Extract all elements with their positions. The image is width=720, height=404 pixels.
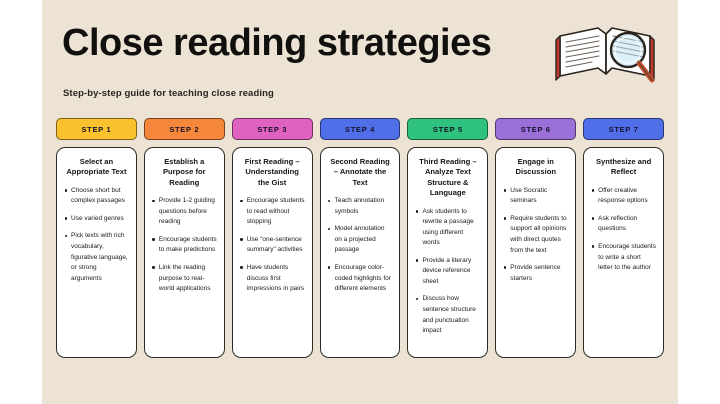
page-title: Close reading strategies: [62, 24, 491, 64]
step-card-title-6: Engage in Discussion: [503, 157, 568, 178]
step-card-7[interactable]: Synthesize and Reflect Offer creative re…: [583, 147, 664, 358]
list-item: Provide a literary device reference shee…: [415, 256, 480, 288]
step-card-5[interactable]: Third Reading – Analyze Text Structure &…: [407, 147, 488, 358]
step-badge-1[interactable]: STEP 1: [56, 118, 137, 140]
step-bullets-2: Provide 1-2 guiding questions before rea…: [152, 196, 217, 301]
step-column-7: STEP 7 Synthesize and Reflect Offer crea…: [583, 118, 664, 358]
list-item: Offer creative response options: [591, 186, 656, 207]
step-card-3[interactable]: First Reading – Understanding the Gist E…: [232, 147, 313, 358]
step-card-6[interactable]: Engage in Discussion Use Socratic semina…: [495, 147, 576, 358]
step-badge-6[interactable]: STEP 6: [495, 118, 576, 140]
step-column-6: STEP 6 Engage in Discussion Use Socratic…: [495, 118, 576, 358]
step-card-title-7: Synthesize and Reflect: [591, 157, 656, 178]
right-gutter: [678, 0, 720, 404]
left-gutter: [0, 0, 42, 404]
page-subtitle: Step-by-step guide for teaching close re…: [63, 88, 274, 99]
list-item: Encourage color-coded highlights for dif…: [328, 263, 393, 295]
list-item: Encourage students to make predictions: [152, 235, 217, 256]
step-card-title-1: Select an Appropriate Text: [64, 157, 129, 178]
list-item: Require students to support all opinions…: [503, 214, 568, 256]
list-item: Encourage students to read without stopp…: [240, 196, 305, 228]
step-badge-4[interactable]: STEP 4: [320, 118, 401, 140]
step-bullets-6: Use Socratic seminars Require students t…: [503, 186, 568, 291]
step-badge-3[interactable]: STEP 3: [232, 118, 313, 140]
step-column-2: STEP 2 Establish a Purpose for Reading P…: [144, 118, 225, 358]
list-item: Provide 1-2 guiding questions before rea…: [152, 196, 217, 228]
step-badge-2[interactable]: STEP 2: [144, 118, 225, 140]
step-card-1[interactable]: Select an Appropriate Text Choose short …: [56, 147, 137, 358]
step-badge-5[interactable]: STEP 5: [407, 118, 488, 140]
open-book-magnifier-illustration: [554, 18, 662, 88]
slide-root: Close reading strategies Step-by-step gu…: [0, 0, 720, 404]
list-item: Ask reflection questions: [591, 214, 656, 235]
step-bullets-4: Teach annotation symbols Model annotatio…: [328, 196, 393, 301]
step-bullets-5: Ask students to rewrite a passage using …: [415, 207, 480, 344]
list-item: Choose short but complex passages: [64, 186, 129, 207]
step-card-title-2: Establish a Purpose for Reading: [152, 157, 217, 188]
list-item: Model annotation on a projected passage: [328, 224, 393, 256]
step-card-title-3: First Reading – Understanding the Gist: [240, 157, 305, 188]
step-card-2[interactable]: Establish a Purpose for Reading Provide …: [144, 147, 225, 358]
list-item: Have students discuss first impressions …: [240, 263, 305, 295]
step-column-1: STEP 1 Select an Appropriate Text Choose…: [56, 118, 137, 358]
step-column-4: STEP 4 Second Reading – Annotate the Tex…: [320, 118, 401, 358]
step-card-title-5: Third Reading – Analyze Text Structure &…: [415, 157, 480, 199]
list-item: Encourage students to write a short lett…: [591, 242, 656, 274]
step-bullets-1: Choose short but complex passages Use va…: [64, 186, 129, 291]
step-bullets-7: Offer creative response options Ask refl…: [591, 186, 656, 281]
step-column-5: STEP 5 Third Reading – Analyze Text Stru…: [407, 118, 488, 358]
slide-canvas: Close reading strategies Step-by-step gu…: [42, 0, 678, 404]
list-item: Ask students to rewrite a passage using …: [415, 207, 480, 249]
step-bullets-3: Encourage students to read without stopp…: [240, 196, 305, 301]
list-item: Teach annotation symbols: [328, 196, 393, 217]
list-item: Use varied genres: [64, 214, 129, 225]
list-item: Pick texts with rich vocabulary, figurat…: [64, 231, 129, 284]
step-card-4[interactable]: Second Reading – Annotate the Text Teach…: [320, 147, 401, 358]
step-column-3: STEP 3 First Reading – Understanding the…: [232, 118, 313, 358]
list-item: Provide sentence starters: [503, 263, 568, 284]
list-item: Use "one-sentence summary" activities: [240, 235, 305, 256]
step-badge-7[interactable]: STEP 7: [583, 118, 664, 140]
list-item: Link the reading purpose to real-world a…: [152, 263, 217, 295]
list-item: Use Socratic seminars: [503, 186, 568, 207]
list-item: Discuss how sentence structure and punct…: [415, 294, 480, 336]
steps-row: STEP 1 Select an Appropriate Text Choose…: [56, 118, 664, 358]
step-card-title-4: Second Reading – Annotate the Text: [328, 157, 393, 188]
